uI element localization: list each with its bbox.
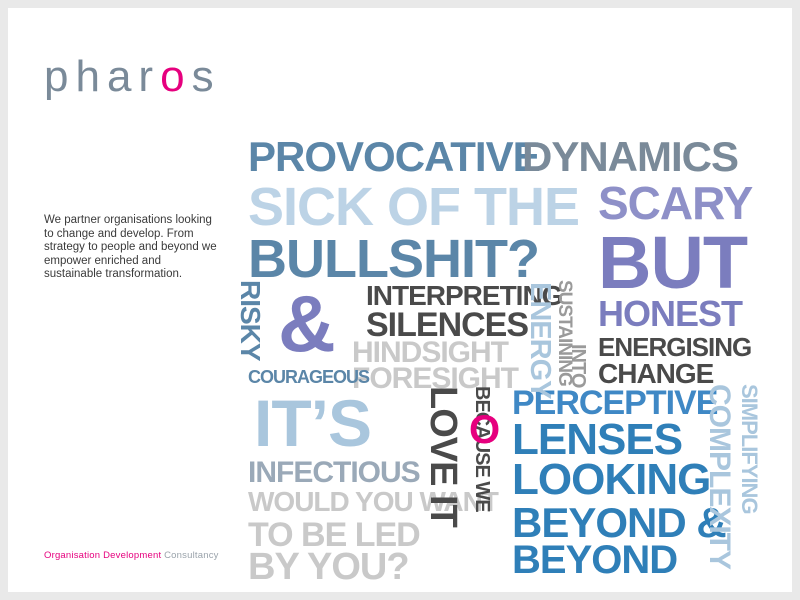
footer-rest: Consultancy — [161, 550, 218, 561]
footer-tagline: Organisation Development Consultancy — [44, 550, 219, 561]
intro-paragraph: We partner organisations looking to chan… — [44, 214, 219, 282]
cloud-word: & — [278, 284, 335, 364]
cloud-word: INFECTIOUS — [248, 458, 420, 488]
cloud-word: BY YOU? — [248, 548, 409, 584]
cloud-word: COURAGEOUS — [248, 368, 369, 386]
cloud-word: COMPLEXITY — [704, 384, 734, 569]
cloud-accent-o: O — [469, 410, 499, 450]
cloud-word: RISKY — [240, 280, 264, 361]
cloud-word: BULLSHIT? — [248, 232, 539, 286]
cloud-word: ENERGISING — [598, 334, 751, 360]
cloud-word: BUT — [598, 226, 747, 300]
cloud-word: SICK OF THE — [248, 180, 579, 234]
footer-highlight: Organisation Development — [44, 550, 161, 561]
cloud-word: BEYOND — [512, 540, 677, 580]
cloud-word: IT’S — [254, 390, 371, 456]
brand-logo: pharos — [44, 52, 221, 102]
cloud-word: DYNAMICS — [522, 136, 738, 178]
cloud-word: INTO — [568, 344, 588, 387]
cloud-word: SIMPLIFYING — [738, 384, 760, 514]
logo-accent-o: o — [160, 52, 191, 101]
cloud-word: SCARY — [598, 180, 752, 226]
cloud-word: PROVOCATIVE — [248, 136, 540, 178]
cloud-word: HONEST — [598, 296, 742, 332]
logo-text-part2: s — [192, 52, 221, 101]
word-cloud: PROVOCATIVEDYNAMICSSICK OF THESCARYBULLS… — [240, 136, 776, 584]
logo-text-part1: phar — [44, 52, 160, 101]
cloud-word: ENERGY — [525, 282, 554, 398]
slide-page: pharos We partner organisations looking … — [8, 8, 792, 592]
cloud-word: LOOKING — [512, 458, 710, 502]
cloud-word: LOVE IT — [424, 386, 462, 527]
